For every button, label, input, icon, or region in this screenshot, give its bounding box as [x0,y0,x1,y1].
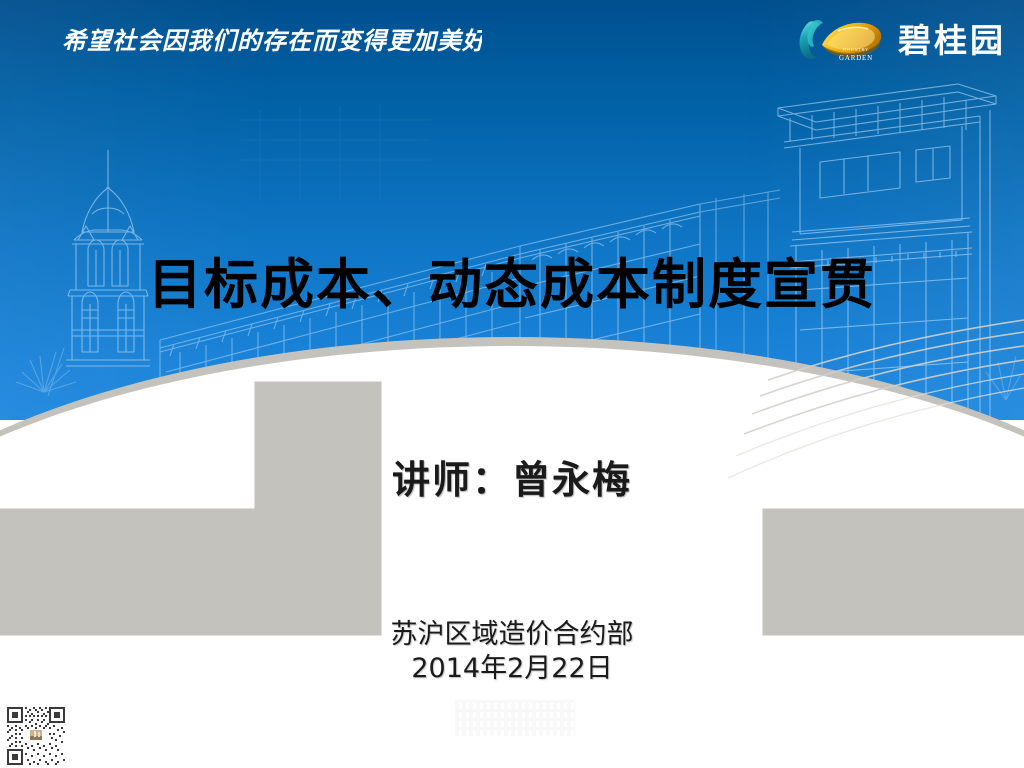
page-title: 目标成本、动态成本制度宣贯 [0,253,1024,317]
slogan-text: 希望社会因我们的存在而变得更加美好！ [62,26,482,55]
faint-watermark [455,700,575,736]
brand-english-name: COUNTRY GARDEN [828,46,884,62]
brand-chinese-name: 碧桂园 [898,24,1006,59]
brand-sub-bottom: GARDEN [839,54,873,62]
presentation-date: 2014年2月22日 [0,652,1024,686]
department-name: 苏沪区域造价合约部 [0,618,1024,652]
presenter-line: 讲师：曾永梅 [0,455,1024,505]
brand-logo: COUNTRY GARDEN 碧桂园 [794,14,1006,68]
handwritten-slogan: 希望社会因我们的存在而变得更加美好！ [62,18,482,62]
country-garden-swoosh-icon: COUNTRY GARDEN [794,15,890,67]
footer-info: 苏沪区域造价合约部 2014年2月22日 [0,618,1024,686]
qr-code[interactable] [4,704,68,768]
title-slide: 希望社会因我们的存在而变得更加美好！ [0,0,1024,768]
brand-sub-top: COUNTRY [828,46,884,54]
